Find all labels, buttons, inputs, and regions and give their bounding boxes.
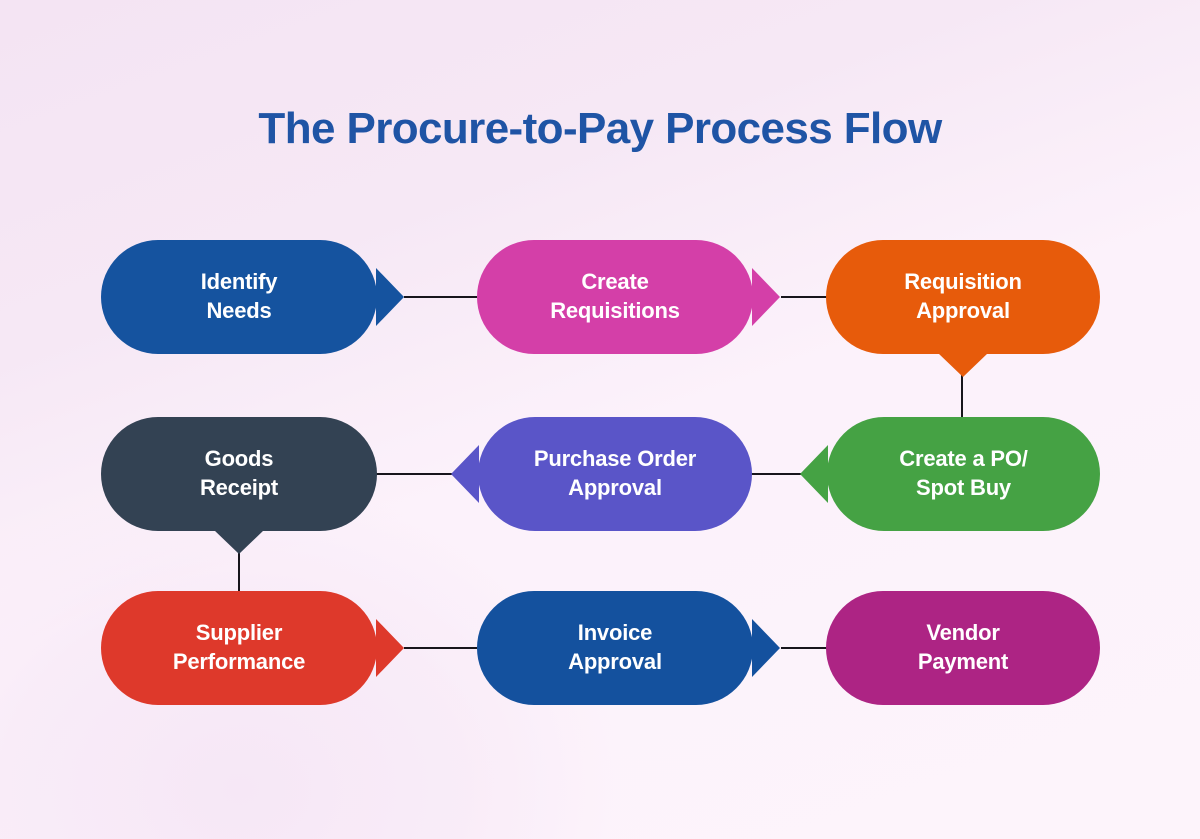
process-node-label: Create Requisitions — [550, 268, 680, 325]
connector-requisition-approval-to-create-a-po — [961, 372, 963, 422]
tail-down-icon — [214, 530, 264, 554]
process-node-requisition-approval[interactable]: Requisition Approval — [826, 240, 1100, 354]
process-node-create-requisitions[interactable]: Create Requisitions — [477, 240, 753, 354]
connector-invoice-approval-to-vendor-payment — [781, 647, 831, 649]
connector-goods-receipt-to-supplier-performance — [238, 548, 240, 596]
process-node-purchase-order-approval[interactable]: Purchase Order Approval — [478, 417, 752, 531]
tail-right-icon — [752, 619, 780, 677]
process-node-label: Purchase Order Approval — [534, 445, 696, 502]
diagram-canvas: The Procure-to-Pay Process Flow Identify… — [0, 0, 1200, 839]
process-node-goods-receipt[interactable]: Goods Receipt — [101, 417, 377, 531]
connector-create-requisitions-to-requisition-approval — [781, 296, 831, 298]
tail-down-icon — [938, 353, 988, 377]
process-node-identify-needs[interactable]: Identify Needs — [101, 240, 377, 354]
connector-identify-needs-to-create-requisitions — [404, 296, 477, 298]
process-node-label: Requisition Approval — [904, 268, 1022, 325]
tail-right-icon — [376, 268, 404, 326]
process-node-label: Supplier Performance — [173, 619, 305, 676]
process-node-create-a-po-spot-buy[interactable]: Create a PO/ Spot Buy — [827, 417, 1100, 531]
tail-left-icon — [451, 445, 479, 503]
process-node-label: Goods Receipt — [200, 445, 278, 502]
tail-right-icon — [376, 619, 404, 677]
process-node-label: Identify Needs — [201, 268, 278, 325]
tail-left-icon — [800, 445, 828, 503]
connector-supplier-performance-to-invoice-approval — [404, 647, 477, 649]
process-node-label: Vendor Payment — [918, 619, 1008, 676]
connector-purchase-order-approval-to-goods-receipt — [375, 473, 453, 475]
process-node-supplier-performance[interactable]: Supplier Performance — [101, 591, 377, 705]
page-title: The Procure-to-Pay Process Flow — [0, 104, 1200, 154]
process-node-vendor-payment[interactable]: Vendor Payment — [826, 591, 1100, 705]
process-node-invoice-approval[interactable]: Invoice Approval — [477, 591, 753, 705]
process-node-label: Create a PO/ Spot Buy — [899, 445, 1027, 502]
tail-right-icon — [752, 268, 780, 326]
process-node-label: Invoice Approval — [568, 619, 662, 676]
